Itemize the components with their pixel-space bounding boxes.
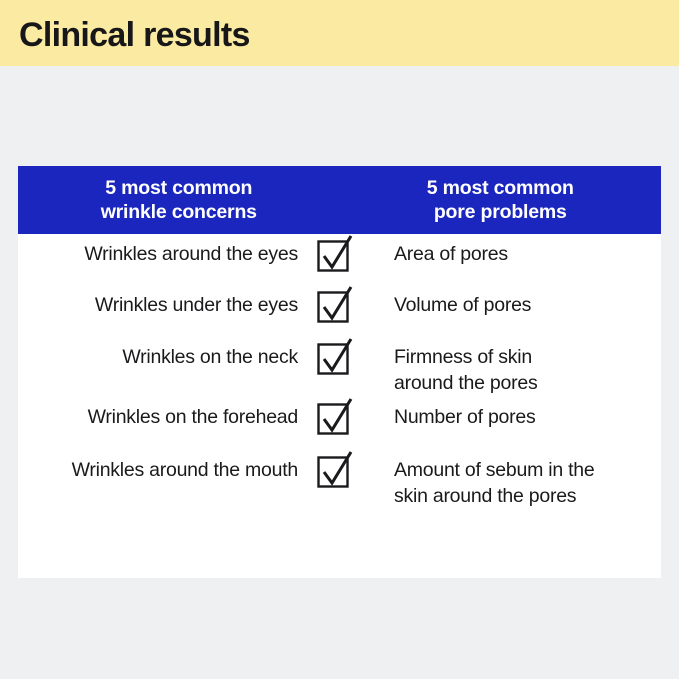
checked-box-icon (318, 241, 348, 271)
page-title: Clinical results (19, 15, 250, 55)
table-header-wrinkle-concerns: 5 most common wrinkle concerns (18, 166, 340, 234)
table-body: Wrinkles around the eyes Area of pores W… (18, 234, 661, 517)
title-banner: Clinical results (0, 0, 679, 66)
pore-problem-label: Amount of sebum in the skin around the p… (358, 457, 600, 509)
table-header-row: 5 most common wrinkle concerns 5 most co… (18, 166, 661, 234)
checked-box-icon (318, 457, 348, 487)
pore-problem-label: Firmness of skin around the pores (358, 344, 596, 396)
clinical-results-card: 5 most common wrinkle concerns 5 most co… (18, 166, 661, 578)
wrinkle-concern-label: Wrinkles around the mouth (18, 457, 308, 483)
checkbox-cell (308, 292, 358, 322)
wrinkle-concern-label: Wrinkles on the forehead (18, 404, 308, 430)
checked-box-icon (318, 404, 348, 434)
table-header-pore-problems: 5 most common pore problems (340, 166, 662, 234)
checkbox-cell (308, 241, 358, 271)
pore-problem-label: Volume of pores (358, 292, 661, 318)
pore-problem-label: Number of pores (358, 404, 661, 430)
checkbox-cell (308, 344, 358, 374)
table-row: Wrinkles under the eyes Volume of pores (18, 286, 661, 338)
checked-box-icon (318, 292, 348, 322)
wrinkle-concern-label: Wrinkles on the neck (18, 344, 308, 370)
checkbox-cell (308, 404, 358, 434)
wrinkle-concern-label: Wrinkles under the eyes (18, 292, 308, 318)
checkbox-cell (308, 457, 358, 487)
checked-box-icon (318, 344, 348, 374)
table-header-wrinkle-concerns-label: 5 most common wrinkle concerns (101, 176, 257, 224)
wrinkle-concern-label: Wrinkles around the eyes (18, 241, 308, 267)
table-row: Wrinkles around the mouth Amount of sebu… (18, 451, 661, 517)
table-row: Wrinkles on the forehead Number of pores (18, 404, 661, 451)
table-header-pore-problems-label: 5 most common pore problems (427, 176, 574, 224)
pore-problem-label: Area of pores (358, 241, 661, 267)
table-row: Wrinkles around the eyes Area of pores (18, 234, 661, 286)
